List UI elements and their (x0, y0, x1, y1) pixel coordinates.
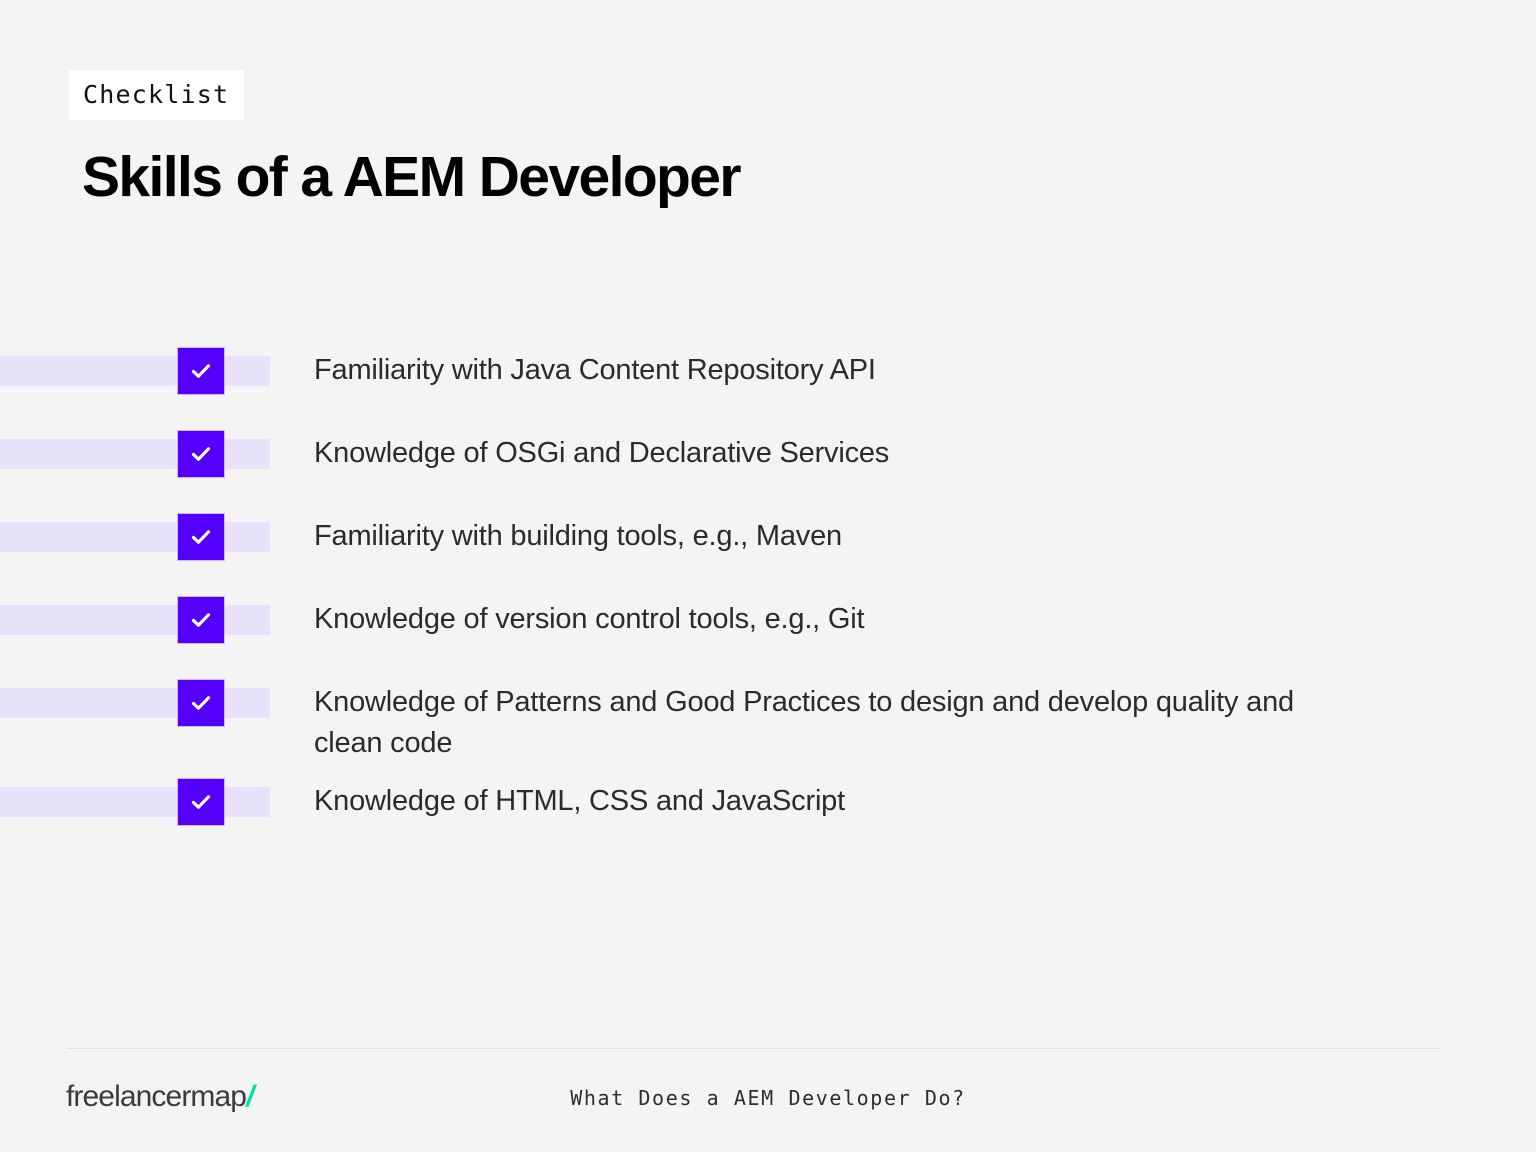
list-item[interactable]: Knowledge of Patterns and Good Practices… (0, 668, 1536, 752)
checkbox-checked[interactable] (177, 596, 225, 644)
list-item[interactable]: Knowledge of OSGi and Declarative Servic… (0, 419, 1536, 487)
list-item[interactable]: Familiarity with building tools, e.g., M… (0, 502, 1536, 570)
checklist: Familiarity with Java Content Repository… (0, 336, 1536, 850)
list-item[interactable]: Knowledge of HTML, CSS and JavaScript (0, 767, 1536, 835)
row-highlight-bar (0, 787, 270, 817)
check-icon (189, 525, 213, 549)
check-icon (189, 442, 213, 466)
checkbox-checked[interactable] (177, 679, 225, 727)
checkbox-checked[interactable] (177, 778, 225, 826)
list-item-label: Knowledge of OSGi and Declarative Servic… (314, 433, 1364, 474)
page-header: Checklist Skills of a AEM Developer (69, 70, 740, 209)
footer-divider (66, 1048, 1440, 1049)
list-item[interactable]: Knowledge of version control tools, e.g.… (0, 585, 1536, 653)
checkbox-checked[interactable] (177, 430, 225, 478)
checkbox-checked[interactable] (177, 513, 225, 561)
list-item-label: Knowledge of Patterns and Good Practices… (314, 682, 1364, 764)
row-highlight-bar (0, 605, 270, 635)
checklist-badge: Checklist (69, 70, 244, 120)
check-icon (189, 691, 213, 715)
list-item-label: Knowledge of HTML, CSS and JavaScript (314, 781, 1364, 822)
check-icon (189, 790, 213, 814)
row-highlight-bar (0, 688, 270, 718)
footer-caption: What Does a AEM Developer Do? (0, 1086, 1536, 1110)
check-icon (189, 608, 213, 632)
list-item-label: Knowledge of version control tools, e.g.… (314, 599, 1364, 640)
row-highlight-bar (0, 356, 270, 386)
check-icon (189, 359, 213, 383)
row-highlight-bar (0, 522, 270, 552)
page-title: Skills of a AEM Developer (82, 147, 740, 209)
page-footer: freelancermap/ What Does a AEM Developer… (0, 1078, 1536, 1128)
checkbox-checked[interactable] (177, 347, 225, 395)
row-highlight-bar (0, 439, 270, 469)
list-item-label: Familiarity with Java Content Repository… (314, 350, 1364, 391)
list-item-label: Familiarity with building tools, e.g., M… (314, 516, 1364, 557)
list-item[interactable]: Familiarity with Java Content Repository… (0, 336, 1536, 404)
